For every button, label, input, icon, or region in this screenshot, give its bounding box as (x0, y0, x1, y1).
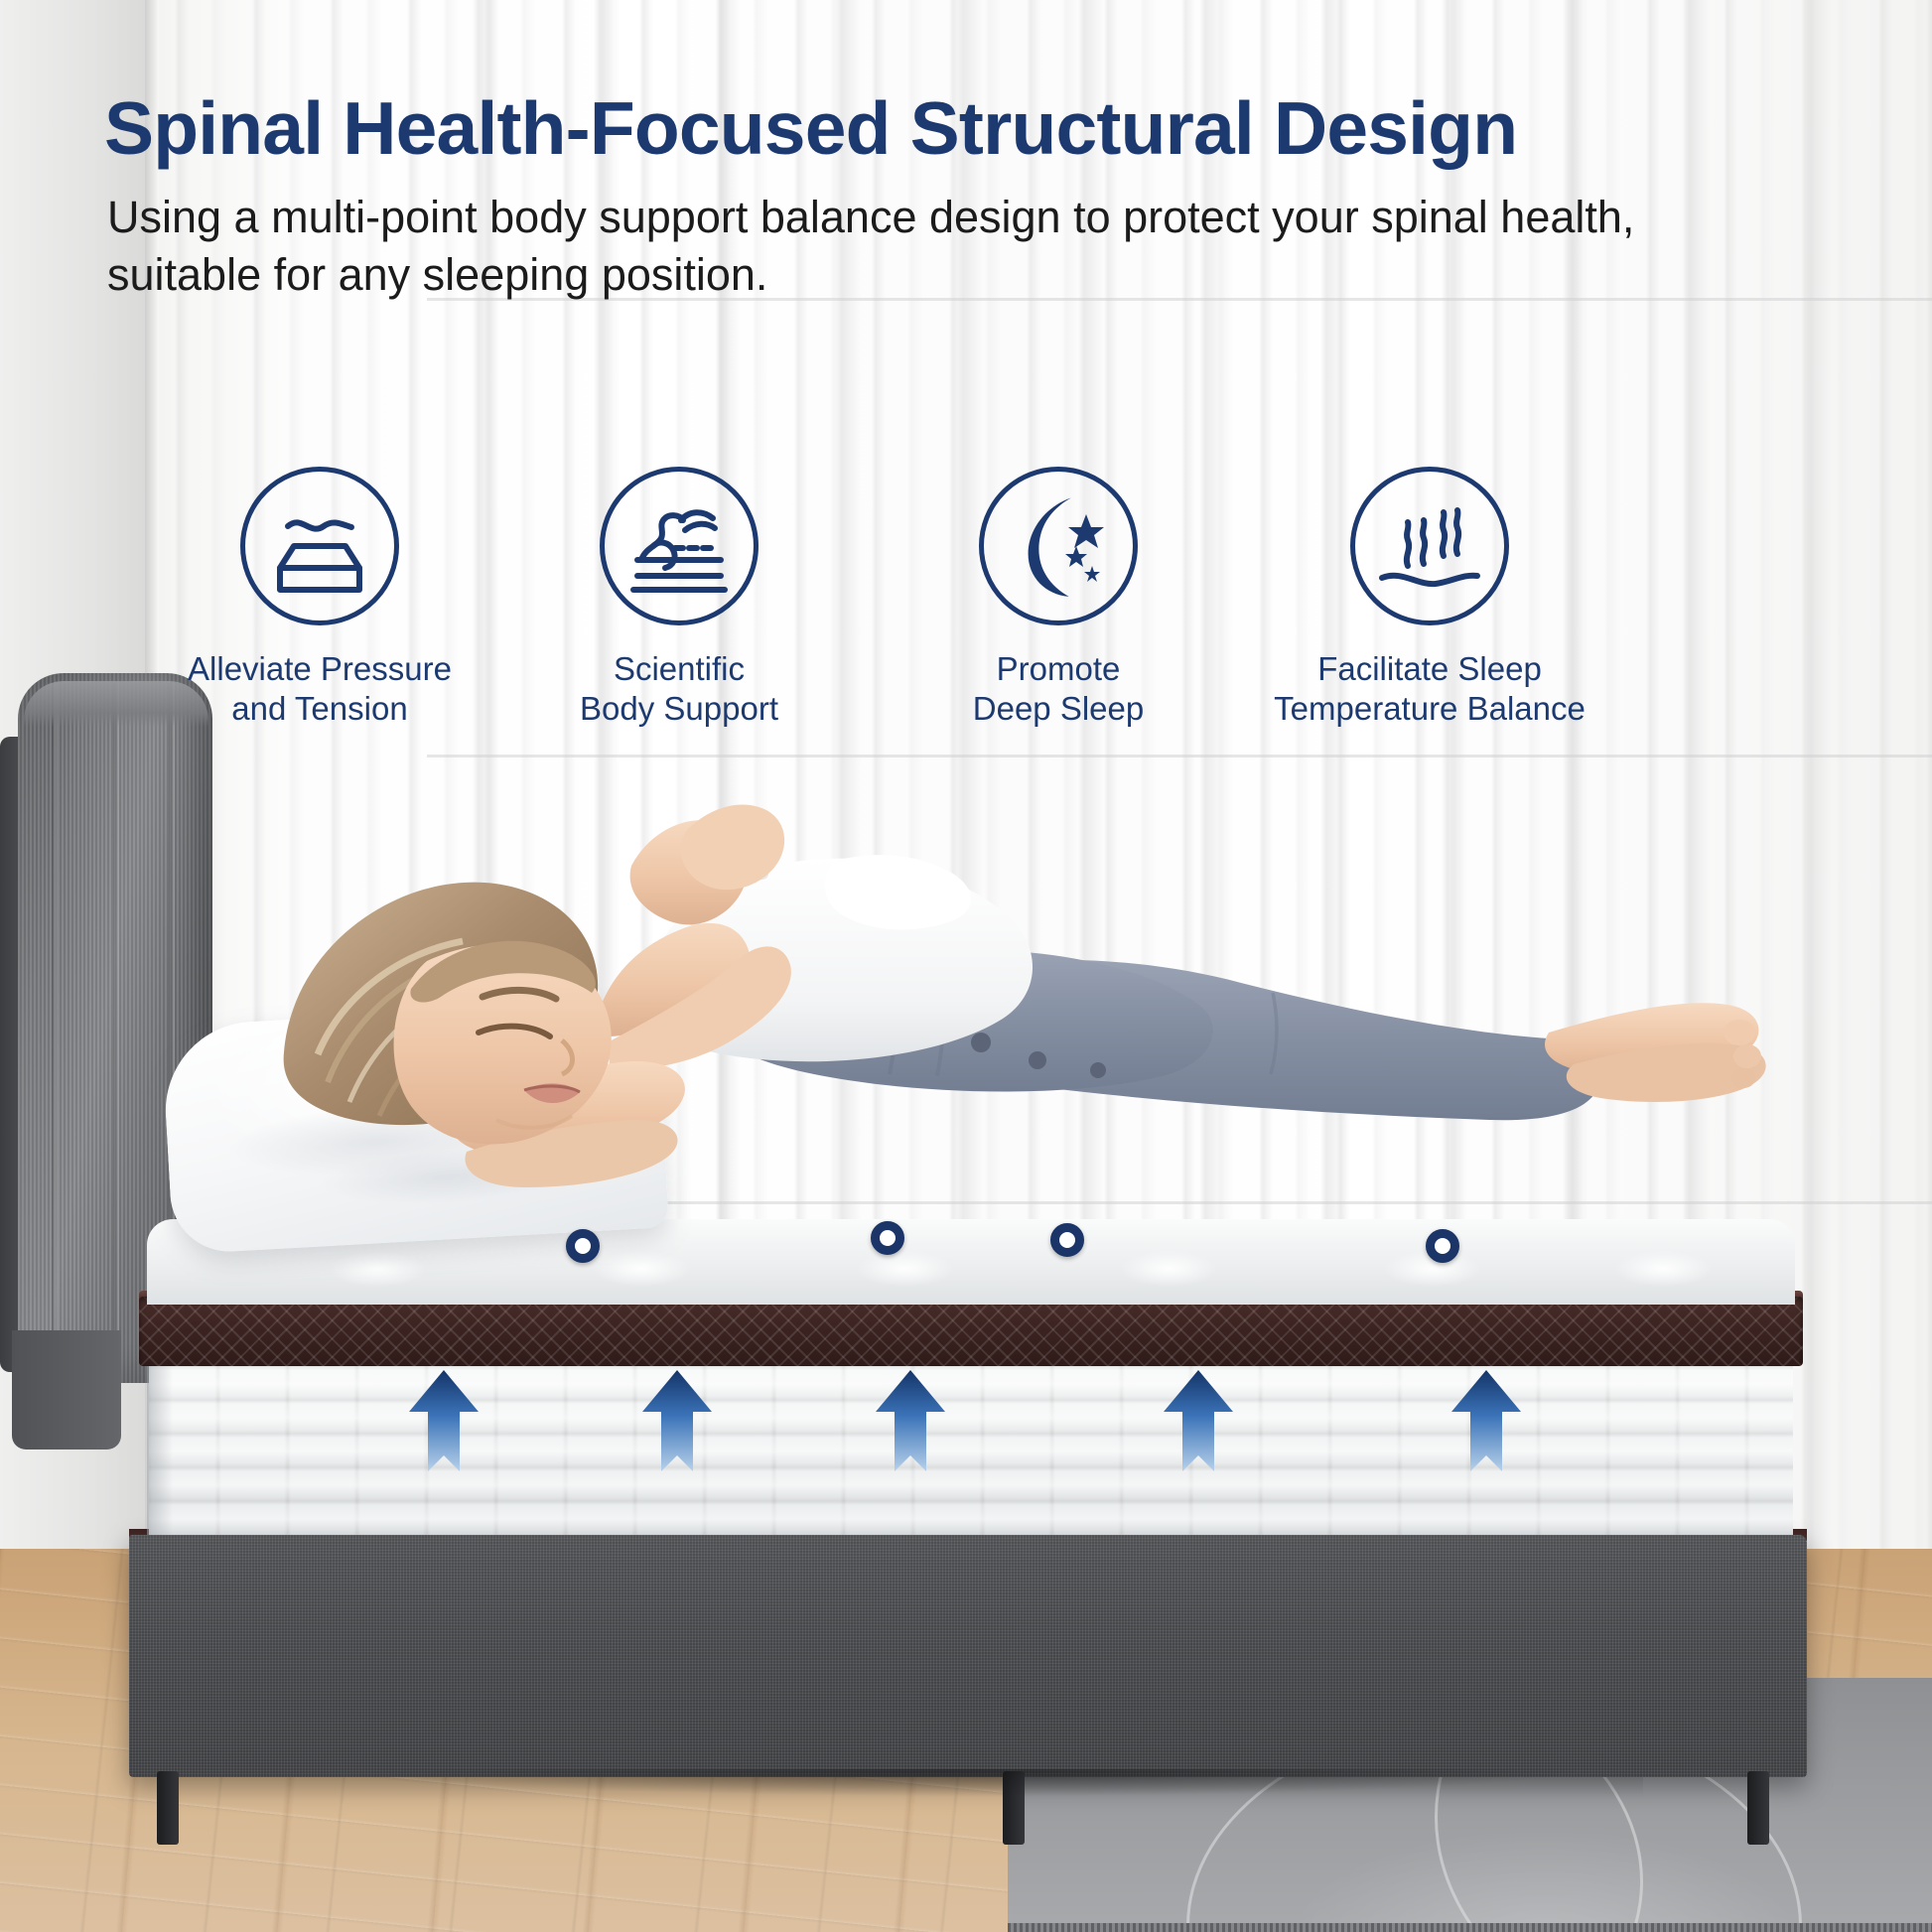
feature-label: Facilitate Sleep Temperature Balance (1274, 649, 1586, 730)
feature-icon-circle (1350, 467, 1509, 625)
body-support-spine-icon (623, 490, 735, 602)
page-title: Spinal Health-Focused Structural Design (104, 91, 1881, 166)
moon-stars-icon (1003, 490, 1114, 602)
feature-icon-circle (979, 467, 1138, 625)
feature-icon-circle (600, 467, 759, 625)
feature-label: Alleviate Pressure and Tension (188, 649, 452, 730)
product-scene: Spinal Health-Focused Structural Design … (0, 0, 1932, 1932)
feature-item-alleviate-pressure[interactable]: Alleviate Pressure and Tension (161, 467, 479, 730)
feature-item-deep-sleep[interactable]: Promote Deep Sleep (899, 467, 1217, 730)
support-point-marker (1050, 1223, 1084, 1257)
feature-item-body-support[interactable]: Scientific Body Support (520, 467, 838, 730)
feature-label: Promote Deep Sleep (973, 649, 1144, 730)
feature-list: Alleviate Pressure and Tension (149, 467, 1837, 695)
page-subtitle: Using a multi-point body support balance… (107, 189, 1696, 303)
support-point-marker (566, 1229, 600, 1263)
support-point-marker (871, 1221, 904, 1255)
feature-item-temperature-balance[interactable]: Facilitate Sleep Temperature Balance (1271, 467, 1588, 730)
feature-icon-circle (240, 467, 399, 625)
feature-label: Scientific Body Support (580, 649, 778, 730)
support-point-marker (1426, 1229, 1459, 1263)
mattress-wave-icon (264, 490, 375, 602)
heat-waves-icon (1374, 490, 1485, 602)
